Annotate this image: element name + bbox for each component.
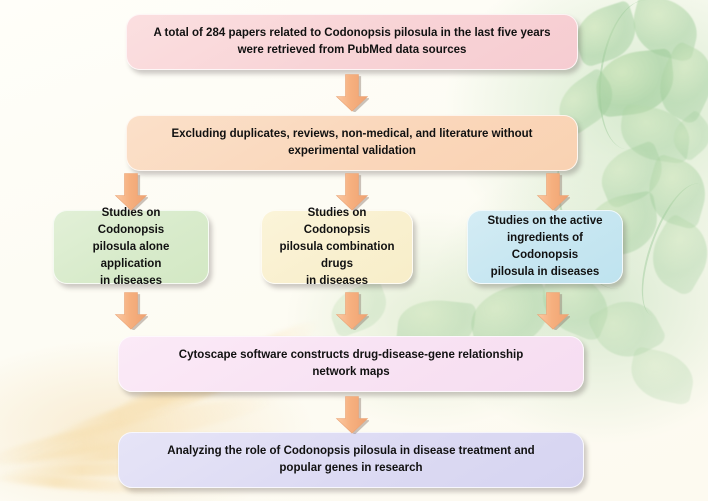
vine-stem [628, 175, 708, 324]
alone-application-text: Studies on Codonopsis pilosula alone app… [68, 205, 194, 290]
arrow-n3b-to-n4 [335, 292, 369, 330]
analysis-conclusion-text: Analyzing the role of Codonopsis pilosul… [167, 443, 534, 477]
arrow-down-icon [536, 173, 570, 211]
arrow-down-icon [335, 74, 369, 112]
retrieved-papers-box: A total of 284 papers related to Codonop… [126, 14, 578, 70]
arrow-n4-to-n5 [335, 396, 369, 434]
retrieved-papers-text: A total of 284 papers related to Codonop… [153, 25, 550, 59]
arrow-n2-to-n3b [335, 173, 369, 211]
exclusion-criteria-text: Excluding duplicates, reviews, non-medic… [171, 126, 532, 160]
arrow-down-icon [114, 173, 148, 211]
active-ingredients-text: Studies on the active ingredients of Cod… [482, 213, 608, 281]
analysis-conclusion-box: Analyzing the role of Codonopsis pilosul… [118, 432, 584, 488]
leaf-icon [593, 140, 671, 210]
arrow-n2-to-n3c [536, 173, 570, 211]
arrow-down-icon [335, 292, 369, 330]
arrow-down-icon [114, 292, 148, 330]
cytoscape-network-text: Cytoscape software constructs drug-disea… [179, 347, 523, 381]
alone-application-box: Studies on Codonopsis pilosula alone app… [53, 210, 209, 284]
leaf-icon [647, 40, 708, 126]
arrow-n2-to-n3a [114, 173, 148, 211]
leaf-icon [639, 212, 708, 297]
arrow-n1-to-n2 [335, 74, 369, 112]
cytoscape-network-box: Cytoscape software constructs drug-disea… [118, 336, 584, 392]
combination-drugs-text: Studies on Codonopsis pilosula combinati… [276, 205, 398, 290]
arrow-n3c-to-n4 [536, 292, 570, 330]
leaf-icon [586, 289, 668, 369]
arrow-down-icon [335, 396, 369, 434]
leaf-icon [640, 153, 708, 231]
leaf-icon [626, 0, 704, 63]
leaf-icon [626, 346, 699, 406]
active-ingredients-box: Studies on the active ingredients of Cod… [467, 210, 623, 284]
leaf-icon [568, 0, 643, 68]
exclusion-criteria-box: Excluding duplicates, reviews, non-medic… [126, 115, 578, 171]
leaf-icon [665, 109, 708, 162]
leaf-icon [617, 103, 694, 164]
flowchart-canvas: A total of 284 papers related to Codonop… [0, 0, 708, 501]
arrow-down-icon [335, 173, 369, 211]
arrow-down-icon [536, 292, 570, 330]
combination-drugs-box: Studies on Codonopsis pilosula combinati… [261, 210, 413, 284]
vine-stem [590, 0, 682, 154]
leaf-icon [593, 48, 677, 118]
arrow-n3a-to-n4 [114, 292, 148, 330]
